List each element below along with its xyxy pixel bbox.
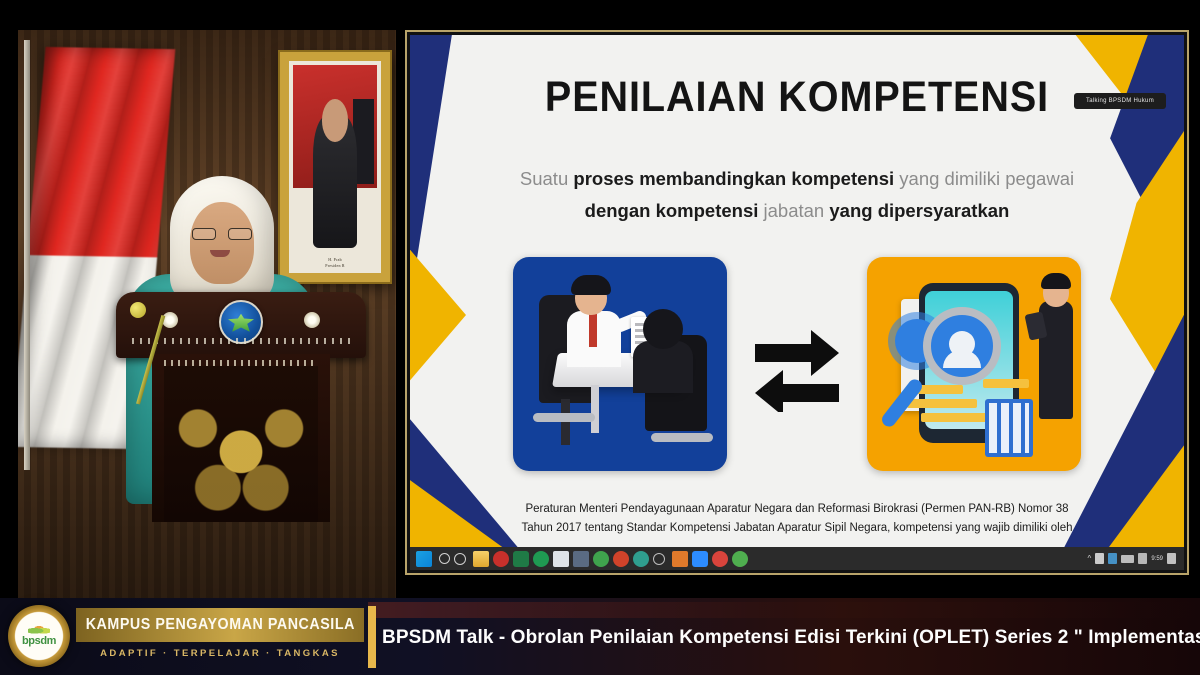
body-text-jabatan: jabatan [758,200,829,221]
recruiter-body [1039,301,1073,419]
body-text-suatu: Suatu [520,168,574,189]
podium [116,292,366,522]
recruiter-hair [1041,273,1071,289]
chair-base-left [533,413,595,422]
slide-footnote: Peraturan Menteri Pendayagunaan Aparatur… [488,500,1106,537]
candidate-head [643,309,683,349]
browser-icon[interactable] [732,551,748,567]
powerpoint-icon[interactable] [672,551,688,567]
data-line-3 [921,413,987,422]
flag-pole [24,40,30,470]
podium-rosette-left [162,312,178,328]
user-avatar-body [943,350,981,368]
slide-body-line2: dengan kompetensi jabatan yang dipersyar… [480,195,1114,227]
portrait-head [322,99,348,141]
podium-carving [164,366,318,522]
taskbar-clock[interactable]: 9:59 [1151,556,1163,562]
podium-rosette-right [304,312,320,328]
ticker-text: BPSDM Talk - Obrolan Penilaian Kompetens… [382,627,1200,649]
volume-icon[interactable] [1138,553,1147,564]
excel-icon[interactable] [513,551,529,567]
interview-illustration [513,257,727,471]
leaf-icon [28,626,50,634]
zoom-icon[interactable] [692,551,708,567]
bottom-banner: bpsdm KAMPUS PENGAYOMAN PANCASILA ADAPTI… [0,598,1200,675]
profile-search-illustration [867,257,1081,471]
body-bold-dipersyaratkan: yang dipersyaratkan [829,200,1009,221]
brand-subtitle: ADAPTIF · TERPELAJAR · TANGKAS [76,648,364,659]
action-center-icon[interactable] [1167,553,1176,564]
body-bold-proses: proses membandingkan kompetensi [573,168,894,189]
data-line-2 [907,399,977,408]
banner-glow [368,602,1200,618]
windows-taskbar[interactable]: ^ 9:59 [410,547,1184,570]
slide-title: PENILAIAN KOMPETENSI [441,73,1153,122]
speaker-video-panel[interactable]: H. Prab Presiden R [18,30,396,600]
binders-icon [985,399,1033,457]
assessor-tie [589,313,597,347]
desk-leg [591,385,599,433]
word-icon[interactable] [553,551,569,567]
whatsapp-icon[interactable] [533,551,549,567]
podium-trim [132,338,350,344]
bpsdm-logo-inner: bpsdm [16,613,62,659]
slide-illustrations [410,253,1184,475]
body-bold-dengan: dengan kompetensi [585,200,759,221]
bpsdm-logo-text: bpsdm [22,635,56,647]
bpsdm-logo: bpsdm [8,605,70,667]
livestream-screenshot: H. Prab Presiden R [0,0,1200,675]
battery-icon[interactable] [1121,555,1134,563]
assessor-hair [571,275,611,295]
screen-share-panel[interactable]: PENILAIAN KOMPETENSI Suatu proses memban… [405,30,1189,575]
onedrive-icon[interactable] [1095,553,1104,564]
podium-body [152,354,330,522]
file-explorer-icon[interactable] [473,551,489,567]
network-icon[interactable] [1108,553,1117,564]
brand-title-box: KAMPUS PENGAYOMAN PANCASILA [76,608,364,642]
footnote-line1: Peraturan Menteri Pendayagunaan Aparatur… [488,500,1106,518]
adobe-reader-icon[interactable] [493,551,509,567]
ticker-divider [368,606,376,668]
app-icon-slate[interactable] [573,551,589,567]
presentation-slide: PENILAIAN KOMPETENSI Suatu proses memban… [410,35,1184,547]
app-icon-teal[interactable] [633,551,649,567]
chevron-up-icon[interactable]: ^ [1088,554,1092,563]
slide-body-line1: Suatu proses membandingkan kompetensi ya… [480,163,1114,195]
brand-title: KAMPUS PENGAYOMAN PANCASILA [85,616,354,634]
microphone-head [130,302,146,318]
body-text-dimiliki: yang dimiliki pegawai [894,168,1074,189]
magnifier-icon [923,307,1001,385]
data-line-4 [983,379,1029,388]
stream-overlay-tag: Talking BPSDM Hukum [1074,93,1166,109]
speaker-face [190,202,254,284]
cortana-icon[interactable] [454,553,466,565]
chrome-icon[interactable] [712,551,728,567]
news-ticker: BPSDM Talk - Obrolan Penilaian Kompetens… [382,620,1200,656]
slide-body-text: Suatu proses membandingkan kompetensi ya… [480,163,1114,228]
bidirectional-arrows-icon [751,316,843,412]
speaker-glasses-icon [192,228,252,240]
footnote-line2: Tahun 2017 tentang Standar Kompetensi Ja… [488,519,1106,537]
app-icon-circle[interactable] [653,553,665,565]
app-icon-red[interactable] [613,551,629,567]
app-icon-green[interactable] [593,551,609,567]
chair-base-right [651,433,713,442]
system-tray[interactable]: ^ 9:59 [1088,553,1180,564]
windows-start-icon[interactable] [416,551,432,567]
search-icon[interactable] [439,553,450,564]
speaker-head [170,176,274,304]
